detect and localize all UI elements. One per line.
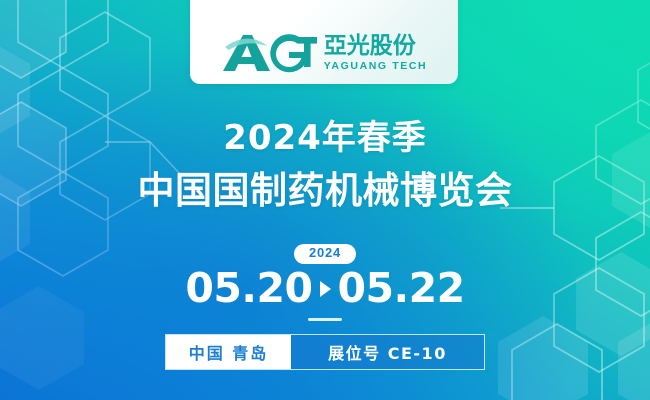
logo-company-name-cn: 亞光股份 [324, 35, 416, 58]
play-arrow-icon [320, 281, 331, 297]
year-badge: 2024 [294, 244, 356, 264]
company-logo-card: 亞光股份 YAGUANG TECH [190, 0, 458, 84]
venue-city: 中国 青岛 [166, 335, 291, 369]
headline-line-1: 2024年春季 [0, 118, 650, 158]
date-divider [308, 318, 342, 321]
date-end: 05.22 [338, 268, 465, 309]
exhibition-banner: 亞光股份 YAGUANG TECH 2024年春季 中国国制药机械博览会 202… [0, 0, 650, 400]
date-start: 05.20 [185, 268, 312, 309]
headline-line-2: 中国国制药机械博览会 [0, 170, 650, 213]
venue-booth-number: 展位号 CE-10 [291, 335, 484, 369]
date-range-row: 05.20 05.22 [0, 268, 650, 309]
date-group: 2024 05.20 05.22 [0, 244, 650, 321]
logo-company-name-en: YAGUANG TECH [324, 61, 427, 72]
venue-bar: 中国 青岛 展位号 CE-10 [165, 334, 485, 370]
headline-group: 2024年春季 中国国制药机械博览会 [0, 118, 650, 213]
agt-logo-icon [221, 33, 317, 73]
